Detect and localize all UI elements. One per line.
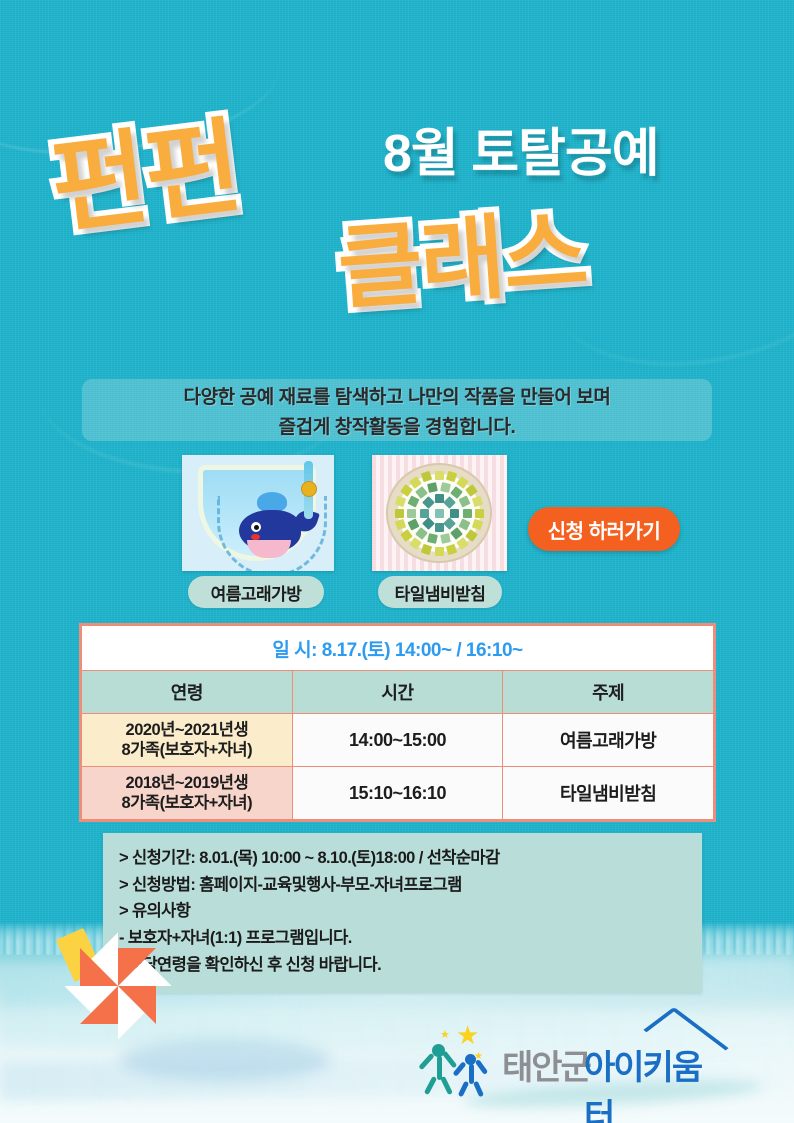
- trivet-wood-disc: [386, 463, 492, 563]
- cell-topic-row1: 여름고래가방: [503, 714, 714, 767]
- table-header-row: 연령 시간 주제: [82, 671, 714, 714]
- title-month-subject: 8월 토탈공예: [383, 128, 659, 180]
- age-row1-line2: 8가족(보호자+자녀): [122, 741, 253, 759]
- cell-age-row1: 2020년~2021년생 8가족(보호자+자녀): [82, 714, 293, 767]
- age-row1-line1: 2020년~2021년생: [126, 721, 249, 739]
- mosaic-tile: [463, 509, 472, 518]
- mosaic-tile: [407, 509, 416, 518]
- mosaic-tile: [395, 509, 404, 518]
- product-image-whale-bag: [182, 455, 334, 571]
- mosaic-tile: [420, 509, 429, 518]
- beach-parasol-decoration: [62, 930, 162, 1026]
- table-row: 2018년~2019년생 8가족(보호자+자녀) 15:10~16:10 타일냄…: [82, 767, 714, 820]
- title-funfun: 펀펀: [46, 115, 245, 241]
- note-line-4: - 보호자+자녀(1:1) 프로그램입니다.: [119, 925, 686, 952]
- mosaic-tile: [475, 509, 484, 518]
- column-header-time: 시간: [292, 671, 503, 714]
- note-line-5: - 해당연령을 확인하신 후 신청 바랍니다.: [119, 952, 686, 979]
- age-row2-line1: 2018년~2019년생: [126, 774, 249, 792]
- product-image-tile-trivet: [372, 455, 507, 571]
- note-line-3: > 유의사항: [119, 898, 686, 925]
- cell-age-row2: 2018년~2019년생 8가족(보호자+자녀): [82, 767, 293, 820]
- description-line-2: 즐겁게 창작활동을 경험합니다.: [279, 412, 516, 439]
- mosaic-tile: [435, 509, 444, 518]
- column-header-age: 연령: [82, 671, 293, 714]
- whale-eye-icon: [251, 522, 261, 532]
- mosaic-tile: [435, 523, 444, 532]
- mosaic-tile: [450, 509, 459, 518]
- schedule-date-line: 일 시: 8.17.(토) 14:00~ / 16:10~: [82, 626, 714, 671]
- cell-time-row1: 14:00~15:00: [292, 714, 503, 767]
- star-small-icon-1: ★: [440, 1030, 450, 1041]
- bag-bell-icon: [301, 481, 317, 497]
- figure-blue-icon: [452, 1054, 494, 1100]
- mosaic-tile: [471, 496, 482, 507]
- table-row-date: 일 시: 8.17.(토) 14:00~ / 16:10~: [82, 626, 714, 671]
- schedule-table-wrapper: 일 시: 8.17.(토) 14:00~ / 16:10~ 연령 시간 주제 2…: [79, 623, 716, 822]
- whale-spout-icon: [257, 492, 287, 512]
- apply-button[interactable]: 신청 하러가기: [528, 507, 680, 551]
- cell-time-row2: 15:10~16:10: [292, 767, 503, 820]
- logo-text-region: 태안군: [502, 1040, 590, 1089]
- poster-canvas: 펀펀 8월 토탈공예 클래스 다양한 공예 재료를 탐색하고 나만의 작품을 만…: [0, 0, 794, 1123]
- age-row2-line2: 8가족(보호자+자녀): [122, 794, 253, 812]
- column-header-topic: 주제: [503, 671, 714, 714]
- whale-bag-shape: [198, 465, 316, 561]
- note-line-2: > 신청방법: 홈페이지-교육및행사-부모-자녀프로그램: [119, 872, 686, 899]
- schedule-table: 일 시: 8.17.(토) 14:00~ / 16:10~ 연령 시간 주제 2…: [81, 625, 714, 820]
- organization-logo: ★ ★ ★ 태안군 아이키움터: [408, 1018, 718, 1096]
- whale-cheek-icon: [251, 534, 260, 540]
- umbrella-icon: [80, 948, 156, 1024]
- headline-block: 펀펀 8월 토탈공예 클래스: [0, 0, 794, 380]
- mosaic-tile: [435, 547, 444, 556]
- mosaic-tile: [421, 543, 432, 554]
- beach-water-blob: [120, 1039, 330, 1081]
- notes-box: > 신청기간: 8.01.(목) 10:00 ~ 8.10.(토)18:00 /…: [103, 833, 702, 993]
- table-row: 2020년~2021년생 8가족(보호자+자녀) 14:00~15:00 여름고…: [82, 714, 714, 767]
- title-class: 클래스: [335, 206, 589, 315]
- note-line-1: > 신청기간: 8.01.(목) 10:00 ~ 8.10.(토)18:00 /…: [119, 845, 686, 872]
- description-box: 다양한 공예 재료를 탐색하고 나만의 작품을 만들어 보며 즐겁게 창작활동을…: [82, 379, 712, 441]
- mosaic-tile: [440, 482, 451, 493]
- cell-topic-row2: 타일냄비받침: [503, 767, 714, 820]
- description-line-1: 다양한 공예 재료를 탐색하고 나만의 작품을 만들어 보며: [184, 382, 611, 409]
- product-label-tile-trivet: 타일냄비받침: [378, 576, 502, 608]
- product-label-whale-bag: 여름고래가방: [188, 576, 324, 608]
- mosaic-tile: [435, 471, 444, 480]
